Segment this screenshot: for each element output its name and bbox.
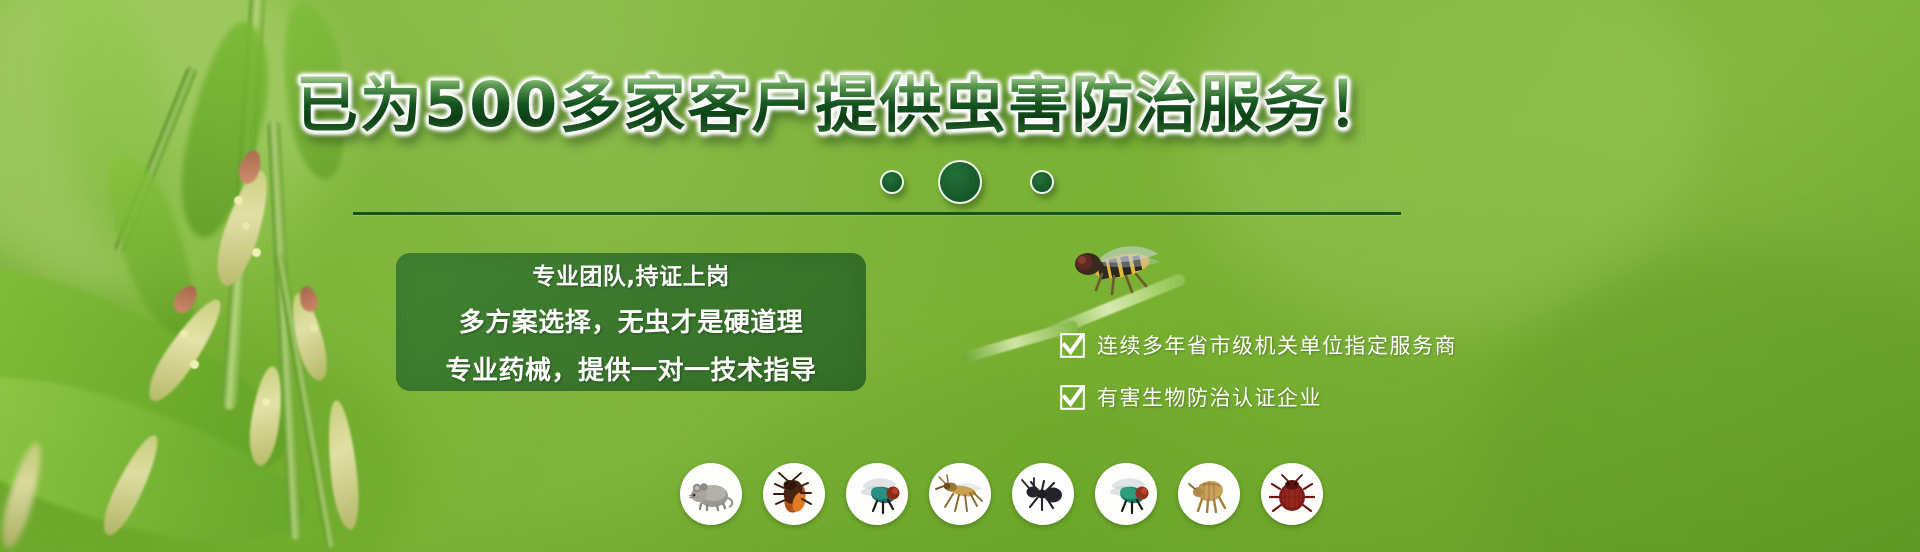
info-line-2: 多方案选择，无虫才是硬道理 <box>459 302 804 339</box>
small-dot-icon <box>880 170 904 194</box>
bullet-label: 有害生物防治认证企业 <box>1097 382 1322 412</box>
decor-dots <box>880 157 1080 203</box>
cockroach-icon[interactable] <box>763 463 825 525</box>
info-line-3: 专业药械，提供一对一技术指导 <box>445 350 816 387</box>
mosquito-icon[interactable] <box>929 463 991 525</box>
rodent-icon[interactable] <box>680 463 742 525</box>
checkbox-checked-icon <box>1060 385 1085 410</box>
bullet-label: 连续多年省市级机关单位指定服务商 <box>1097 330 1457 360</box>
bullet-item: 有害生物防治认证企业 <box>1060 382 1457 412</box>
fly-icon[interactable] <box>846 463 908 525</box>
feature-bullets: 连续多年省市级机关单位指定服务商 有害生物防治认证企业 <box>1060 330 1457 412</box>
pest-icon-row <box>680 463 1323 525</box>
checkbox-checked-icon <box>1060 333 1085 358</box>
bedbug-icon[interactable] <box>1261 463 1323 525</box>
page-title: 已为500多家客户提供虫害防治服务！ <box>296 74 1391 136</box>
info-line-1: 专业团队,持证上岗 <box>532 257 729 291</box>
large-dot-icon <box>938 160 982 204</box>
hoverfly-decoration <box>1040 238 1170 308</box>
pest-control-banner: 已为500多家客户提供虫害防治服务！ 已为500多家客户提供虫害防治服务！ 专业… <box>0 0 1920 552</box>
info-box: 专业团队,持证上岗 多方案选择，无虫才是硬道理 专业药械，提供一对一技术指导 <box>396 253 866 391</box>
blowfly-icon[interactable] <box>1095 463 1157 525</box>
bullet-item: 连续多年省市级机关单位指定服务商 <box>1060 330 1457 360</box>
flea-icon[interactable] <box>1178 463 1240 525</box>
small-dot-icon <box>1030 170 1054 194</box>
ant-icon[interactable] <box>1012 463 1074 525</box>
divider <box>353 212 1401 215</box>
